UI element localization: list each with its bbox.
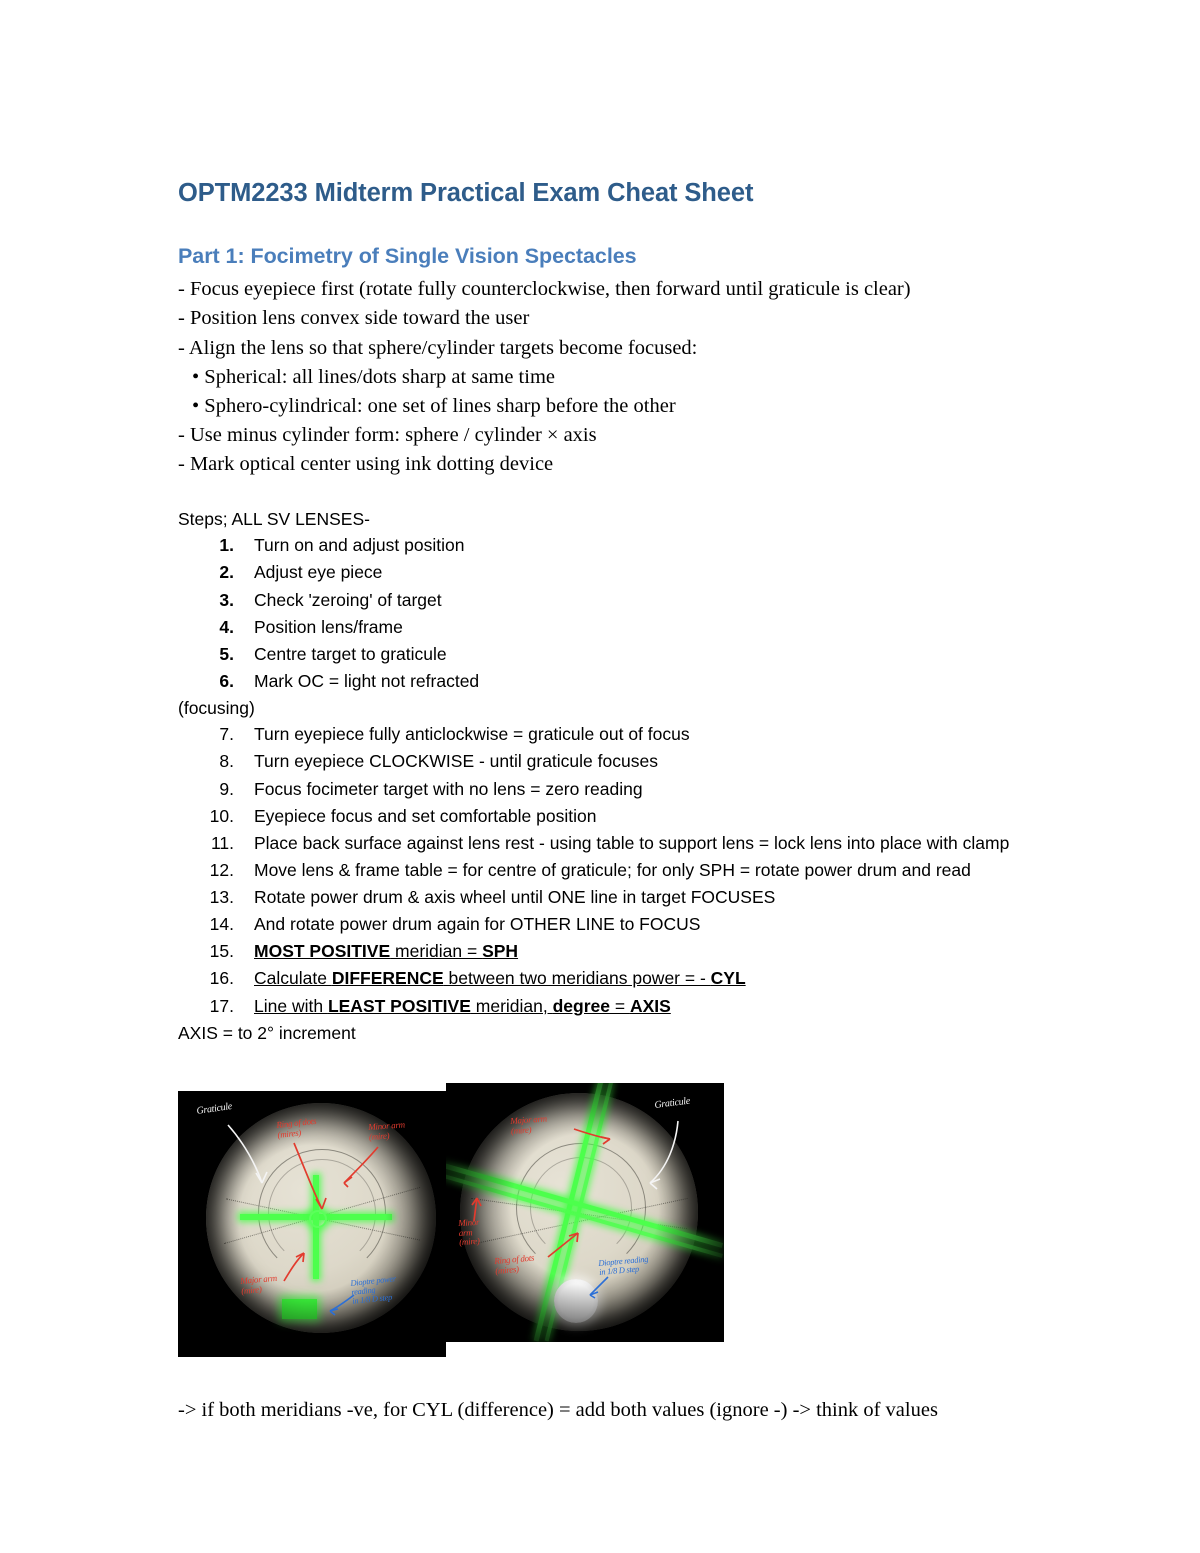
list-item-text: Line with LEAST POSITIVE meridian, degre… [254, 996, 671, 1016]
list-item: 7.Turn eyepiece fully anticlockwise = gr… [178, 721, 1034, 748]
list-item-number: 9. [178, 776, 234, 803]
focusing-label: (focusing) [178, 695, 1034, 721]
steps-list-group-c: 15.MOST POSITIVE meridian = SPH 16.Calcu… [178, 938, 1034, 1019]
list-item-number: 1. [178, 532, 234, 559]
list-item-number: 12. [178, 857, 234, 884]
annotation-arrow-graticule [222, 1121, 282, 1201]
page-title: OPTM2233 Midterm Practical Exam Cheat Sh… [178, 178, 1034, 209]
list-item-text: Turn on and adjust position [254, 535, 464, 555]
list-item-text: Calculate DIFFERENCE between two meridia… [254, 968, 746, 988]
list-item-number: 6. [178, 668, 234, 695]
list-item: 12.Move lens & frame table = for centre … [178, 857, 1034, 884]
list-item: 1.Turn on and adjust position [178, 532, 1034, 559]
bottom-note: -> if both meridians -ve, for CYL (diffe… [178, 1396, 1038, 1425]
list-item-text: Focus focimeter target with no lens = ze… [254, 779, 643, 799]
dash-point: - Use minus cylinder form: sphere / cyli… [178, 421, 1034, 450]
section-heading-part1: Part 1: Focimetry of Single Vision Spect… [178, 243, 1034, 269]
list-item-text: Eyepiece focus and set comfortable posit… [254, 806, 596, 826]
list-item: 9.Focus focimeter target with no lens = … [178, 776, 1034, 803]
annotation-graticule: Graticule [654, 1097, 691, 1112]
annotation-arrow-minor-arm [466, 1195, 488, 1225]
list-item: 15.MOST POSITIVE meridian = SPH [178, 938, 1034, 965]
dash-point: - Mark optical center using ink dotting … [178, 450, 1034, 479]
document-page: OPTM2233 Midterm Practical Exam Cheat Sh… [0, 0, 1200, 1553]
annotation-ring-of-dots: Ring of dots (mires) [494, 1254, 535, 1277]
axis-increment-note: AXIS = to 2° increment [178, 1020, 1034, 1046]
list-item-number: 2. [178, 559, 234, 586]
dash-point: - Position lens convex side toward the u… [178, 304, 1034, 333]
list-item-text: Position lens/frame [254, 617, 403, 637]
list-item-text: Move lens & frame table = for centre of … [254, 860, 971, 880]
list-item: 10.Eyepiece focus and set comfortable po… [178, 803, 1034, 830]
list-item-text: MOST POSITIVE meridian = SPH [254, 941, 518, 961]
list-item: 16.Calculate DIFFERENCE between two meri… [178, 965, 1034, 992]
list-item-text: Place back surface against lens rest - u… [254, 833, 1009, 853]
list-item-number: 4. [178, 614, 234, 641]
dash-point: - Align the lens so that sphere/cylinder… [178, 334, 1034, 363]
list-item: 4.Position lens/frame [178, 614, 1034, 641]
list-item-text: And rotate power drum again for OTHER LI… [254, 914, 700, 934]
document-content: OPTM2233 Midterm Practical Exam Cheat Sh… [178, 178, 1034, 1046]
list-item-number: 15. [178, 938, 234, 965]
annotation-arrow-minor-arm [330, 1143, 384, 1193]
dash-point: - Focus eyepiece first (rotate fully cou… [178, 275, 1034, 304]
focimeter-figure: Graticule Ring of dots (mires) Minor arm… [178, 1083, 724, 1358]
list-item-number: 7. [178, 721, 234, 748]
steps-intro: Steps; ALL SV LENSES- [178, 506, 1034, 532]
list-item-text: Turn eyepiece fully anticlockwise = grat… [254, 724, 690, 744]
annotation-arrow-ring-of-dots [288, 1139, 334, 1223]
annotation-major-arm: Major arm (mire) [240, 1274, 278, 1297]
annotation-major-arm: Major arm (mire) [510, 1114, 548, 1136]
dioptre-power-readout [282, 1299, 317, 1319]
list-item-number: 16. [178, 965, 234, 992]
list-item-number: 10. [178, 803, 234, 830]
list-item-text: Mark OC = light not refracted [254, 671, 479, 691]
annotation-arrow-dioptre-reading [586, 1275, 612, 1299]
list-item: 6.Mark OC = light not refracted [178, 668, 1034, 695]
list-item: 13.Rotate power drum & axis wheel until … [178, 884, 1034, 911]
focimeter-photo-left: Graticule Ring of dots (mires) Minor arm… [178, 1091, 446, 1357]
list-item-text: Adjust eye piece [254, 562, 382, 582]
annotation-arrow-major-arm [572, 1125, 616, 1147]
list-item-text: Rotate power drum & axis wheel until ONE… [254, 887, 775, 907]
list-item: 2.Adjust eye piece [178, 559, 1034, 586]
list-item-number: 13. [178, 884, 234, 911]
bullet-point: • Spherical: all lines/dots sharp at sam… [178, 363, 1034, 392]
annotation-arrow-ring-of-dots [544, 1229, 584, 1263]
list-item: 5.Centre target to graticule [178, 641, 1034, 668]
annotation-ring-of-dots: Ring of dots (mires) [276, 1117, 318, 1141]
list-item-number: 14. [178, 911, 234, 938]
list-item-number: 5. [178, 641, 234, 668]
steps-list-group-a: 1.Turn on and adjust position 2.Adjust e… [178, 532, 1034, 695]
annotation-graticule: Graticule [196, 1102, 233, 1118]
list-item-number: 17. [178, 993, 234, 1020]
list-item: 3.Check 'zeroing' of target [178, 587, 1034, 614]
steps-list-group-b: 7.Turn eyepiece fully anticlockwise = gr… [178, 721, 1034, 938]
annotation-arrow-major-arm [278, 1247, 314, 1287]
list-item-text: Centre target to graticule [254, 644, 447, 664]
annotation-arrow-dioptre-power [326, 1291, 358, 1317]
focimeter-photo-right: Graticule Major arm (mire) Minor arm (mi… [446, 1083, 724, 1342]
list-item-text: Turn eyepiece CLOCKWISE - until graticul… [254, 751, 658, 771]
list-item-text: Check 'zeroing' of target [254, 590, 442, 610]
annotation-minor-arm: Minor arm (mire) [368, 1120, 406, 1142]
list-item-number: 11. [178, 830, 234, 857]
bullet-point: • Sphero-cylindrical: one set of lines s… [178, 392, 1034, 421]
list-item: 14.And rotate power drum again for OTHER… [178, 911, 1034, 938]
list-item: 11.Place back surface against lens rest … [178, 830, 1034, 857]
annotation-arrow-graticule [636, 1117, 686, 1195]
list-item: 8.Turn eyepiece CLOCKWISE - until gratic… [178, 748, 1034, 775]
list-item-number: 3. [178, 587, 234, 614]
list-item-number: 8. [178, 748, 234, 775]
paragraph-spacer [178, 479, 1034, 506]
list-item: 17.Line with LEAST POSITIVE meridian, de… [178, 993, 1034, 1020]
